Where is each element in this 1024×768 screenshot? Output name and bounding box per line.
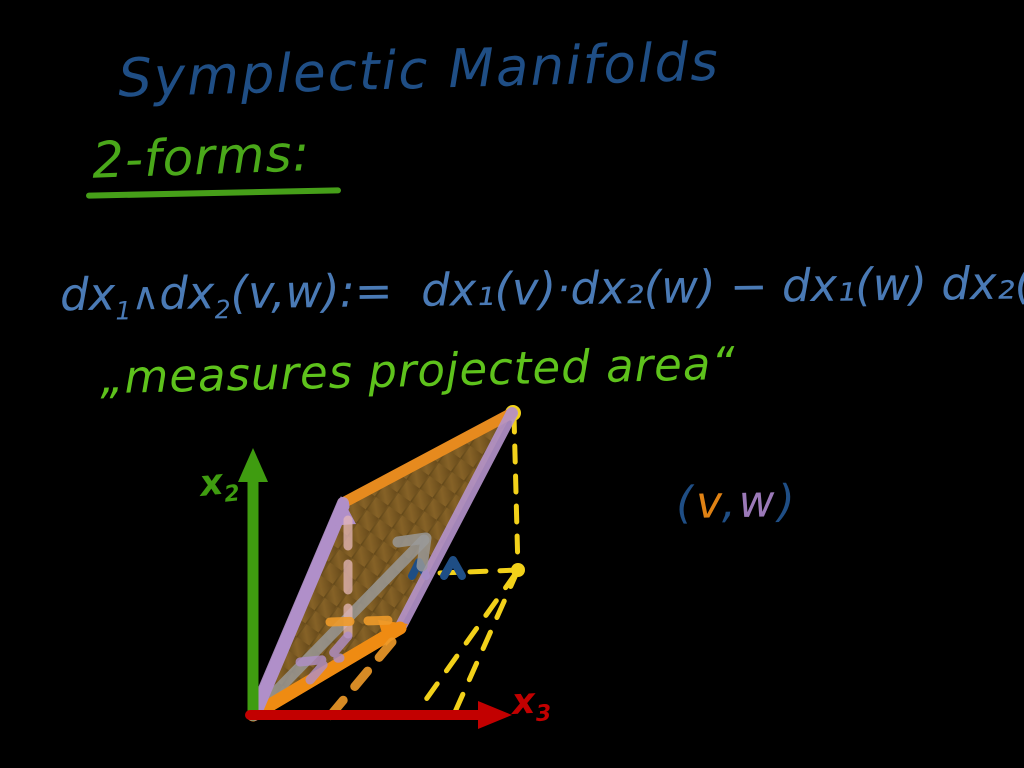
formula-minus-operator: −	[730, 260, 768, 313]
x3-axis	[250, 701, 512, 729]
subtitle-group: 2-forms:	[92, 128, 310, 186]
formula-rhs-term-2: dx₁(w) dx₂(v)	[782, 256, 1024, 313]
formula-lhs-x: x	[88, 268, 115, 321]
x3-label-letter: x	[511, 681, 536, 723]
wedge-operator: ∧	[131, 274, 160, 319]
x2-axis-label: x2	[198, 460, 241, 510]
x2-label-sub: 2	[223, 480, 241, 507]
x3-label-sub: 3	[535, 700, 552, 727]
projection-vertex-dot	[511, 563, 525, 577]
formula-lhs-d2: d	[159, 267, 188, 320]
formula-arguments: (v,w)	[230, 265, 340, 319]
x3-axis-label: x3	[511, 680, 552, 728]
subtitle-2-forms: 2-forms:	[91, 124, 311, 190]
formula-defines-symbol: :=	[339, 264, 393, 318]
page-title: Symplectic Manifolds	[117, 32, 720, 110]
formula-rhs-term-1: dx₁(v)·dx₂(w)	[421, 260, 716, 317]
formula-lhs-x2: x	[188, 266, 215, 319]
formula-lhs-sub-2: 2	[214, 295, 230, 324]
whiteboard-canvas: Symplectic Manifolds 2-forms: dx1∧dx2(v,…	[0, 0, 1024, 768]
formula-lhs-d: d	[60, 268, 89, 321]
wedge-product-formula: dx1∧dx2(v,w):= dx₁(v)·dx₂(w) − dx₁(w) dx…	[60, 256, 1024, 326]
parallelogram-projection-diagram: x2 x3	[0, 390, 1024, 768]
subtitle-underline	[86, 187, 341, 198]
formula-lhs-sub-1: 1	[115, 296, 131, 325]
x2-label-letter: x	[198, 462, 225, 505]
